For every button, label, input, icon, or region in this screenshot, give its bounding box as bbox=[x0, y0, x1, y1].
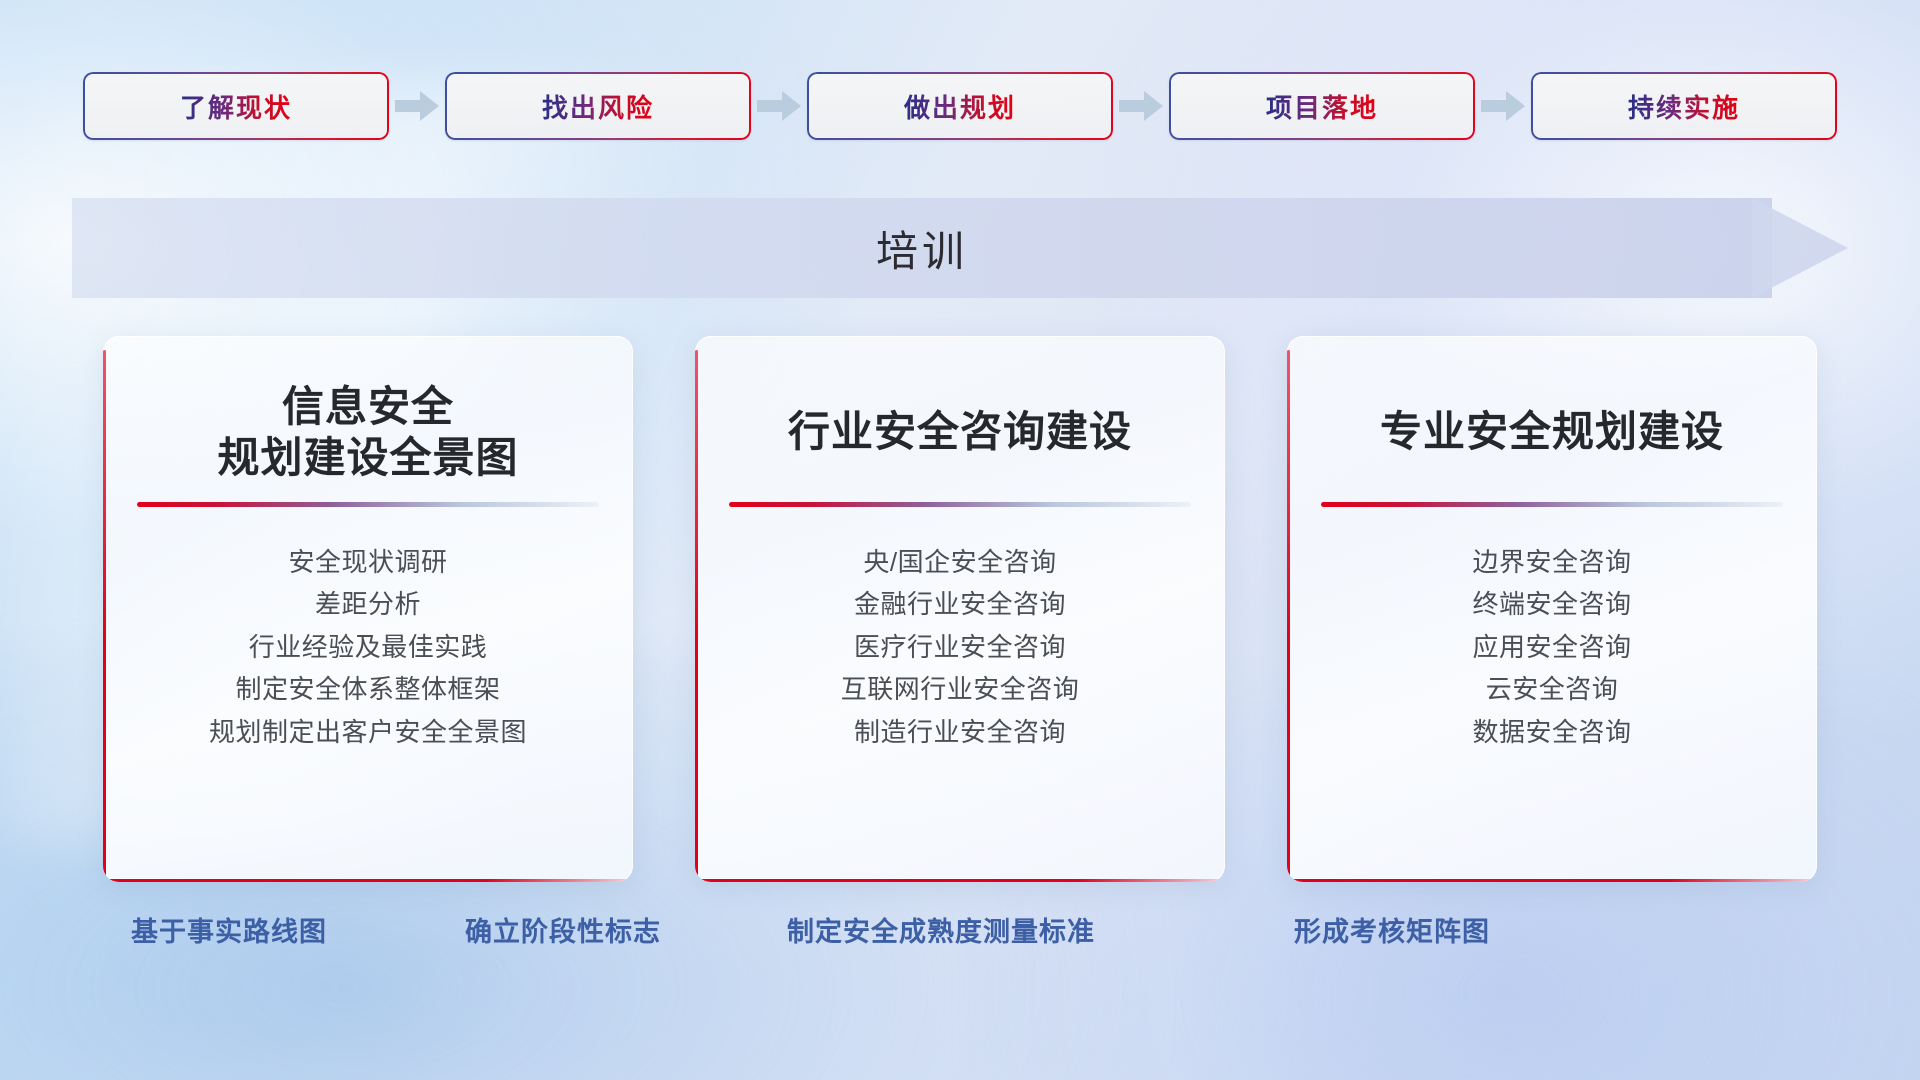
training-banner: 培训 bbox=[72, 198, 1848, 298]
process-step-3[interactable]: 做出规划 bbox=[807, 72, 1113, 140]
process-step-2[interactable]: 找出风险 bbox=[445, 72, 751, 140]
arrow-right-icon bbox=[389, 72, 445, 140]
card-title: 信息安全 规划建设全景图 bbox=[137, 380, 599, 484]
list-item: 应用安全咨询 bbox=[1313, 626, 1791, 668]
arrow-right-icon bbox=[1113, 72, 1169, 140]
list-item: 央/国企安全咨询 bbox=[721, 541, 1199, 583]
process-step-1[interactable]: 了解现状 bbox=[83, 72, 389, 140]
card-item-list: 央/国企安全咨询 金融行业安全咨询 医疗行业安全咨询 互联网行业安全咨询 制造行… bbox=[721, 541, 1199, 753]
list-item: 金融行业安全咨询 bbox=[721, 583, 1199, 625]
card-divider bbox=[729, 502, 1191, 507]
process-step-label: 了解现状 bbox=[180, 88, 292, 125]
arrow-right-icon bbox=[1475, 72, 1531, 140]
card-accent-bottom bbox=[103, 879, 633, 882]
list-item: 数据安全咨询 bbox=[1313, 711, 1791, 753]
process-step-label: 持续实施 bbox=[1628, 88, 1740, 125]
process-step-label: 项目落地 bbox=[1266, 88, 1378, 125]
card-professional-security-planning[interactable]: 专业安全规划建设 边界安全咨询 终端安全咨询 应用安全咨询 云安全咨询 数据安全… bbox=[1287, 336, 1817, 882]
list-item: 制造行业安全咨询 bbox=[721, 711, 1199, 753]
list-item: 边界安全咨询 bbox=[1313, 541, 1791, 583]
card-title-line: 规划建设全景图 bbox=[137, 432, 599, 483]
card-divider bbox=[137, 502, 599, 507]
list-item: 互联网行业安全咨询 bbox=[721, 668, 1199, 710]
bottom-label-row: 基于事实路线图 确立阶段性标志 制定安全成熟度测量标准 形成考核矩阵图 bbox=[0, 910, 1920, 970]
list-item: 云安全咨询 bbox=[1313, 668, 1791, 710]
card-divider bbox=[1321, 502, 1783, 507]
process-step-label: 做出规划 bbox=[904, 88, 1016, 125]
banner-title: 培训 bbox=[72, 198, 1772, 298]
card-title: 专业安全规划建设 bbox=[1321, 380, 1783, 484]
card-accent-bottom bbox=[1287, 879, 1817, 882]
card-item-list: 安全现状调研 差距分析 行业经验及最佳实践 制定安全体系整体框架 规划制定出客户… bbox=[129, 541, 607, 753]
bottom-label-4: 形成考核矩阵图 bbox=[1294, 910, 1490, 949]
list-item: 制定安全体系整体框架 bbox=[129, 668, 607, 710]
card-row: 信息安全 规划建设全景图 安全现状调研 差距分析 行业经验及最佳实践 制定安全体… bbox=[0, 336, 1920, 882]
list-item: 医疗行业安全咨询 bbox=[721, 626, 1199, 668]
card-title-line: 行业安全咨询建设 bbox=[729, 406, 1191, 457]
card-item-list: 边界安全咨询 终端安全咨询 应用安全咨询 云安全咨询 数据安全咨询 bbox=[1313, 541, 1791, 753]
list-item: 规划制定出客户安全全景图 bbox=[129, 711, 607, 753]
process-step-label: 找出风险 bbox=[542, 88, 654, 125]
bottom-label-2: 确立阶段性标志 bbox=[465, 910, 661, 949]
card-industry-security-consulting[interactable]: 行业安全咨询建设 央/国企安全咨询 金融行业安全咨询 医疗行业安全咨询 互联网行… bbox=[695, 336, 1225, 882]
list-item: 行业经验及最佳实践 bbox=[129, 626, 607, 668]
card-title-line: 专业安全规划建设 bbox=[1321, 406, 1783, 457]
arrow-right-icon bbox=[751, 72, 807, 140]
process-step-row: 了解现状 找出风险 做出规划 项目落地 持续实施 bbox=[0, 72, 1920, 140]
card-title: 行业安全咨询建设 bbox=[729, 380, 1191, 484]
list-item: 安全现状调研 bbox=[129, 541, 607, 583]
bottom-label-1: 基于事实路线图 bbox=[131, 910, 327, 949]
process-step-4[interactable]: 项目落地 bbox=[1169, 72, 1475, 140]
process-step-5[interactable]: 持续实施 bbox=[1531, 72, 1837, 140]
card-accent-bottom bbox=[695, 879, 1225, 882]
list-item: 终端安全咨询 bbox=[1313, 583, 1791, 625]
card-title-line: 信息安全 bbox=[137, 381, 599, 432]
bottom-label-3: 制定安全成熟度测量标准 bbox=[787, 910, 1095, 949]
list-item: 差距分析 bbox=[129, 583, 607, 625]
card-information-security[interactable]: 信息安全 规划建设全景图 安全现状调研 差距分析 行业经验及最佳实践 制定安全体… bbox=[103, 336, 633, 882]
